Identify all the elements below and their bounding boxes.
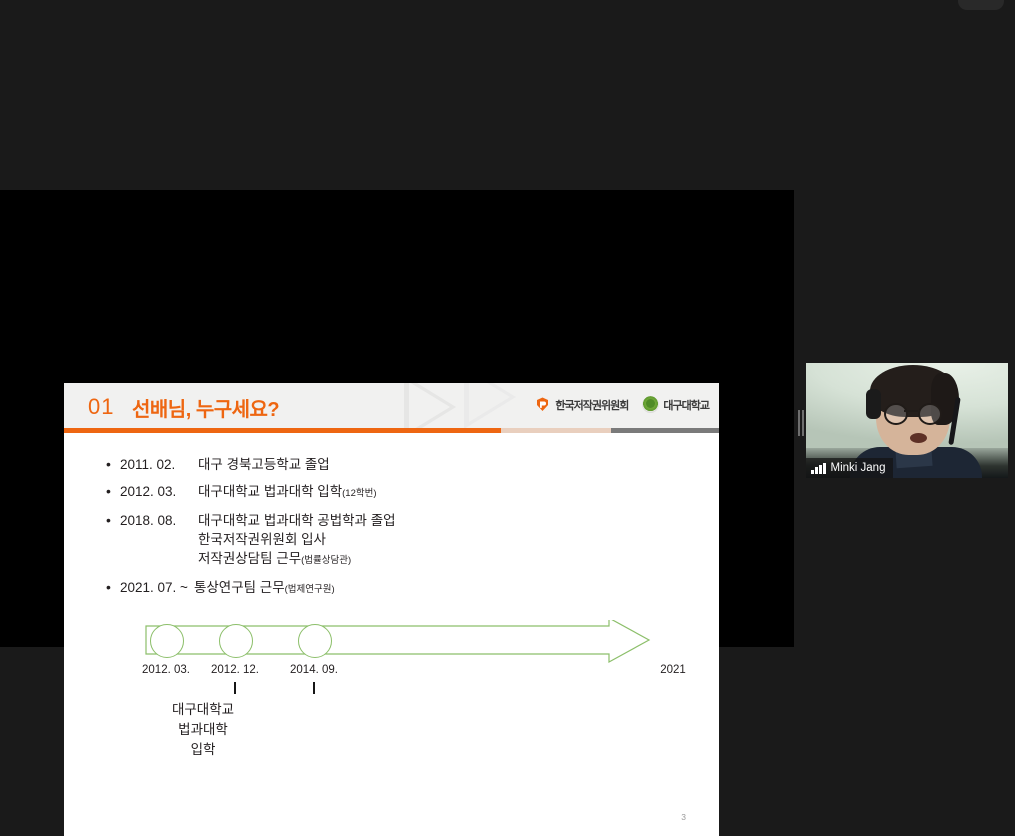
participant-name-label: Minki Jang	[831, 462, 886, 474]
accent-segment-dark	[611, 428, 719, 433]
headset-earcup-icon	[866, 389, 881, 419]
timeline-node	[298, 624, 332, 658]
bullet-body: 대구 경북고등학교 졸업	[198, 455, 330, 474]
bullet-line: 통상연구팀 근무(법제연구원)	[194, 578, 335, 599]
play-triangle-watermark-inner-icon	[409, 383, 450, 428]
video-tile-drag-handle[interactable]	[798, 410, 806, 436]
page-title: 선배님, 누구세요?	[132, 393, 279, 422]
header-accent-rule	[64, 428, 719, 433]
meeting-window: 01 선배님, 누구세요? 한국저작권위원회	[0, 0, 1015, 797]
bullet-line-text: 대구대학교 법과대학 입학	[198, 484, 342, 499]
timeline-node	[219, 624, 253, 658]
bullet-date: 2011. 02.	[120, 455, 198, 474]
eyeglass-bridge	[904, 410, 918, 412]
daegu-university-logo-icon	[642, 396, 659, 413]
bullet-dot-icon: •	[106, 511, 120, 530]
signal-bars-icon	[811, 463, 826, 474]
drag-handle-bar	[802, 410, 804, 436]
timeline-node-label: 2012. 12.	[211, 664, 259, 676]
participant-name-chip: Minki Jang	[806, 458, 893, 478]
timeline-node	[150, 624, 184, 658]
bullet-line: 대구대학교 법과대학 입학(12학번)	[198, 482, 377, 503]
bullet-dot-icon: •	[106, 482, 120, 501]
list-item: • 2011. 02. 대구 경북고등학교 졸업	[106, 455, 666, 474]
play-triangle-watermark-2-inner-icon	[469, 383, 510, 422]
bullet-dot-icon: •	[106, 455, 120, 474]
bullet-line: 대구대학교 법과대학 공법학과 졸업	[198, 511, 396, 530]
bullet-line: 한국저작권위원회 입사	[198, 530, 396, 549]
timeline-caption-line: 입학	[155, 740, 251, 760]
bullet-line: 대구 경북고등학교 졸업	[198, 455, 330, 474]
participant-mouth	[910, 433, 927, 443]
logo-kcc: 한국저작권위원회	[534, 396, 628, 413]
top-controls-pill[interactable]	[958, 0, 1004, 10]
logo-group: 한국저작권위원회 대구대학교	[534, 396, 709, 413]
accent-segment-primary	[64, 428, 501, 433]
accent-segment-light	[501, 428, 611, 433]
career-bullet-list: • 2011. 02. 대구 경북고등학교 졸업 • 2012. 03. 대구대…	[106, 455, 666, 607]
list-item: • 2018. 08. 대구대학교 법과대학 공법학과 졸업 한국저작권위원회 …	[106, 511, 666, 570]
bullet-date: 2021. 07. ~	[120, 578, 188, 597]
eyeglass-lens-left	[884, 403, 908, 425]
bullet-line: 저작권상담팀 근무(법률상담관)	[198, 549, 396, 570]
bullet-body: 통상연구팀 근무(법제연구원)	[194, 578, 335, 599]
timeline-arrow-shape	[144, 620, 654, 690]
timeline-caption-line: 법과대학	[155, 720, 251, 740]
eyeglasses-icon	[882, 403, 948, 421]
bullet-date: 2018. 08.	[120, 511, 198, 530]
bullet-body: 대구대학교 법과대학 공법학과 졸업 한국저작권위원회 입사 저작권상담팀 근무…	[198, 511, 396, 570]
bullet-dot-icon: •	[106, 578, 120, 597]
kcc-logo-icon	[534, 396, 551, 413]
bullet-date: 2012. 03.	[120, 482, 198, 501]
bullet-line-text: 저작권상담팀 근무	[198, 551, 301, 566]
shared-screen-stage[interactable]: 01 선배님, 누구세요? 한국저작권위원회	[0, 190, 794, 647]
timeline-tick	[234, 682, 236, 694]
list-item: • 2021. 07. ~ 통상연구팀 근무(법제연구원)	[106, 578, 666, 599]
bullet-line-text: 통상연구팀 근무	[194, 580, 285, 595]
presentation-slide: 01 선배님, 누구세요? 한국저작권위원회	[64, 383, 719, 836]
timeline-node-label: 2012. 03.	[142, 664, 190, 676]
slide-section-number: 01	[88, 394, 114, 420]
bullet-line-note: (법제연구원)	[285, 584, 335, 595]
logo-daegu-university-label: 대구대학교	[663, 397, 709, 413]
slide-header: 01 선배님, 누구세요? 한국저작권위원회	[64, 383, 719, 428]
career-timeline: 2012. 03. 2012. 12. 2014. 09. 2021 대구대학교…	[144, 620, 654, 770]
bullet-line-note: (법률상담관)	[301, 555, 351, 566]
participant-video-tile[interactable]: Minki Jang	[806, 363, 1008, 478]
timeline-caption-line: 대구대학교	[155, 700, 251, 720]
drag-handle-bar	[798, 410, 800, 436]
timeline-node-label: 2014. 09.	[290, 664, 338, 676]
bullet-body: 대구대학교 법과대학 입학(12학번)	[198, 482, 377, 503]
logo-kcc-label: 한국저작권위원회	[555, 397, 628, 413]
timeline-tick	[313, 682, 315, 694]
list-item: • 2012. 03. 대구대학교 법과대학 입학(12학번)	[106, 482, 666, 503]
logo-daegu-university: 대구대학교	[642, 396, 709, 413]
timeline-caption: 대구대학교 법과대학 입학	[155, 700, 251, 760]
eyeglass-lens-right	[918, 403, 942, 425]
bullet-line-note: (12학번)	[342, 488, 376, 499]
slide-page-number: 3	[681, 812, 686, 822]
timeline-end-label: 2021	[660, 664, 686, 676]
